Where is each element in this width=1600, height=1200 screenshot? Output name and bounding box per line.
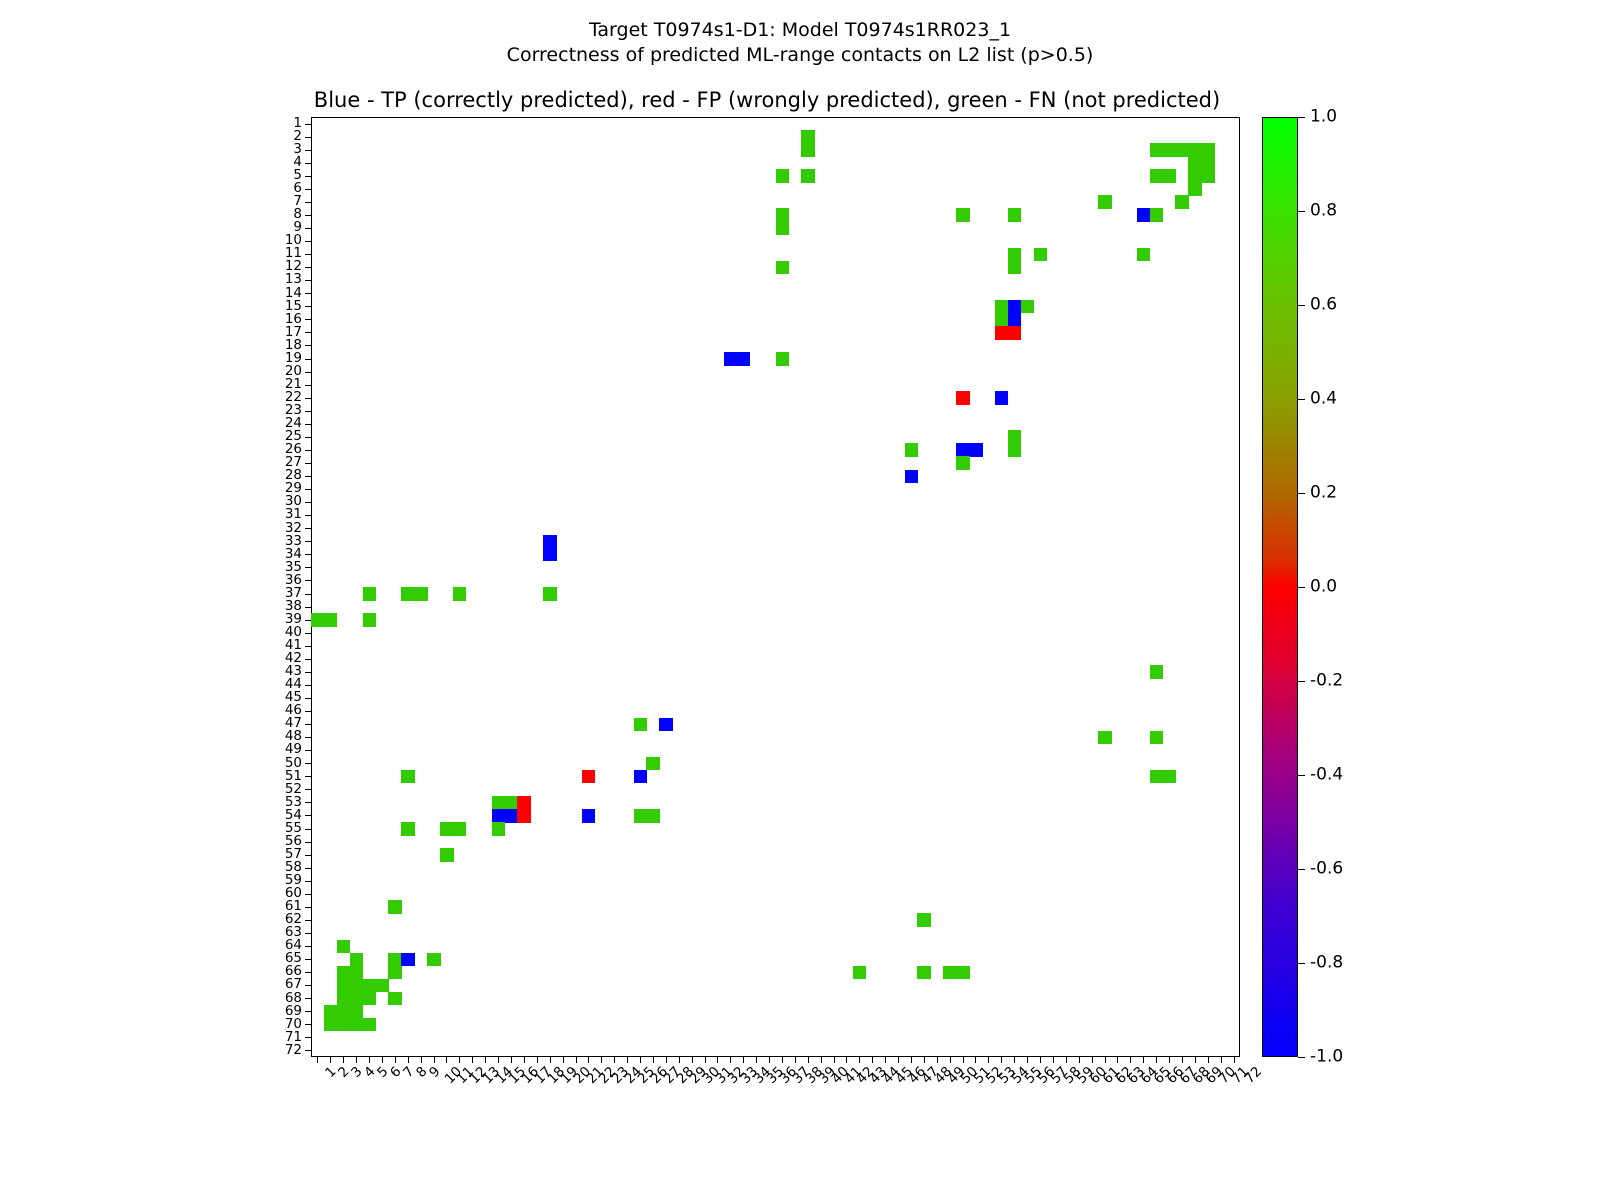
y-tick-mark <box>305 515 311 516</box>
contact-cell-fn <box>363 1018 377 1032</box>
colorbar-tick-label: -0.2 <box>1310 673 1343 690</box>
y-tick-mark <box>305 842 311 843</box>
y-tick-mark <box>305 254 311 255</box>
contact-cell-fn <box>956 208 970 222</box>
suptitle-line-2: Correctness of predicted ML-range contac… <box>0 43 1600 68</box>
y-tick-mark <box>305 1011 311 1012</box>
y-tick-mark <box>305 998 311 999</box>
y-tick-mark <box>305 646 311 647</box>
contact-cell-fn <box>1098 195 1112 209</box>
contact-cell-fn <box>350 992 364 1006</box>
contact-cell-fn <box>1021 300 1035 314</box>
colorbar-tick-mark <box>1298 587 1305 588</box>
x-tick-mark <box>898 1057 899 1063</box>
y-tick-mark <box>305 1024 311 1025</box>
contact-cell-fp <box>517 796 531 810</box>
contact-cell-fn <box>337 940 351 954</box>
y-tick-mark <box>305 476 311 477</box>
contact-cell-fn <box>917 966 931 980</box>
y-tick-mark <box>305 659 311 660</box>
contact-cell-fn <box>1137 248 1151 262</box>
contact-cell-fn <box>1008 208 1022 222</box>
colorbar-tick-mark <box>1298 963 1305 964</box>
y-tick-mark <box>305 763 311 764</box>
x-tick-mark <box>885 1057 886 1063</box>
x-tick-mark <box>1234 1057 1235 1063</box>
contact-cell-tp <box>1008 313 1022 327</box>
y-tick-mark <box>305 176 311 177</box>
y-tick-mark <box>305 594 311 595</box>
y-tick-mark <box>305 489 311 490</box>
contact-cell-tp <box>401 953 415 967</box>
y-tick-mark <box>305 241 311 242</box>
x-tick-mark <box>1143 1057 1144 1063</box>
contact-cell-fn <box>1188 169 1202 183</box>
contact-cell-fn <box>1008 261 1022 275</box>
contact-cell-fn <box>401 822 415 836</box>
y-tick-mark <box>305 920 311 921</box>
y-tick-mark <box>305 802 311 803</box>
x-tick-mark <box>975 1057 976 1063</box>
contact-cell-fn <box>492 822 506 836</box>
x-tick-mark <box>614 1057 615 1063</box>
x-tick-mark <box>1130 1057 1131 1063</box>
figure-suptitle: Target T0974s1-D1: Model T0974s1RR023_1 … <box>0 18 1600 68</box>
contact-cell-fn <box>324 1018 338 1032</box>
y-tick-mark <box>305 855 311 856</box>
contact-cell-fn <box>1163 169 1177 183</box>
contact-cell-fp <box>582 770 596 784</box>
y-tick-mark <box>305 633 311 634</box>
y-tick-mark <box>305 306 311 307</box>
x-tick-mark <box>666 1057 667 1063</box>
contact-cell-fn <box>363 587 377 601</box>
x-tick-mark <box>846 1057 847 1063</box>
colorbar-tick-mark <box>1298 681 1305 682</box>
y-tick-label: 72 <box>285 1044 302 1058</box>
x-tick-mark <box>330 1057 331 1063</box>
contact-cell-fn <box>388 953 402 967</box>
contact-cell-fn <box>414 587 428 601</box>
contact-cell-fn <box>956 966 970 980</box>
y-tick-mark <box>305 150 311 151</box>
contact-cell-tp <box>995 391 1009 405</box>
x-tick-mark <box>692 1057 693 1063</box>
x-tick-mark <box>743 1057 744 1063</box>
heatmap-cells <box>311 117 1240 1057</box>
contact-cell-fn <box>1163 770 1177 784</box>
contact-cell-fn <box>776 221 790 235</box>
contact-cell-fn <box>801 130 815 144</box>
y-tick-mark <box>305 868 311 869</box>
contact-cell-tp <box>505 809 519 823</box>
x-tick-mark <box>988 1057 989 1063</box>
y-tick-mark <box>305 372 311 373</box>
contact-cell-fn <box>1098 731 1112 745</box>
y-tick-mark <box>305 815 311 816</box>
contact-cell-fn <box>1150 731 1164 745</box>
contact-cell-fp <box>995 326 1009 340</box>
x-tick-mark <box>382 1057 383 1063</box>
suptitle-line-1: Target T0974s1-D1: Model T0974s1RR023_1 <box>0 18 1600 43</box>
colorbar-tick-label: 0.4 <box>1310 391 1337 408</box>
colorbar-tick-mark <box>1298 399 1305 400</box>
y-tick-mark <box>305 1050 311 1051</box>
x-tick-mark <box>1208 1057 1209 1063</box>
colorbar-tick-mark <box>1298 305 1305 306</box>
x-tick-mark <box>1182 1057 1183 1063</box>
x-tick-mark <box>511 1057 512 1063</box>
contact-cell-fn <box>337 1005 351 1019</box>
y-tick-mark <box>305 672 311 673</box>
x-tick-mark <box>924 1057 925 1063</box>
x-tick-mark <box>640 1057 641 1063</box>
x-tick-mark <box>421 1057 422 1063</box>
x-tick-mark <box>1105 1057 1106 1063</box>
x-tick-mark <box>756 1057 757 1063</box>
x-tick-mark <box>963 1057 964 1063</box>
contact-cell-fn <box>1150 143 1164 157</box>
contact-cell-fn <box>646 809 660 823</box>
y-tick-mark <box>305 698 311 699</box>
contact-cell-fn <box>388 992 402 1006</box>
y-tick-mark <box>305 959 311 960</box>
contact-cell-fn <box>776 261 790 275</box>
contact-cell-tp <box>543 535 557 549</box>
x-tick-mark <box>1027 1057 1028 1063</box>
y-tick-mark <box>305 450 311 451</box>
y-tick-mark <box>305 502 311 503</box>
contact-cell-tp <box>1137 208 1151 222</box>
x-tick-mark <box>1117 1057 1118 1063</box>
x-tick-mark <box>1053 1057 1054 1063</box>
contact-cell-fn <box>1163 143 1177 157</box>
y-tick-mark <box>305 398 311 399</box>
x-tick-mark <box>472 1057 473 1063</box>
contact-cell-fn <box>363 979 377 993</box>
contact-cell-fn <box>376 979 390 993</box>
contact-cell-fn <box>363 992 377 1006</box>
contact-map-plot: 1234567891011121314151617181920212223242… <box>311 117 1240 1057</box>
x-tick-mark <box>524 1057 525 1063</box>
colorbar: 1.00.80.60.40.20.0-0.2-0.4-0.6-0.8-1.0 <box>1262 117 1298 1057</box>
x-tick-mark <box>808 1057 809 1063</box>
y-tick-mark <box>305 972 311 973</box>
contact-cell-fn <box>995 313 1009 327</box>
y-tick-mark <box>305 332 311 333</box>
colorbar-gradient <box>1262 117 1298 1057</box>
contact-cell-fn <box>1201 143 1215 157</box>
y-tick-mark <box>305 1037 311 1038</box>
y-tick-mark <box>305 463 311 464</box>
contact-cell-fn <box>776 352 790 366</box>
x-tick-mark <box>950 1057 951 1063</box>
contact-cell-fn <box>853 966 867 980</box>
x-tick-mark <box>1066 1057 1067 1063</box>
y-tick-mark <box>305 776 311 777</box>
contact-cell-fn <box>1008 248 1022 262</box>
x-tick-mark <box>563 1057 564 1063</box>
y-tick-mark <box>305 567 311 568</box>
x-tick-mark <box>821 1057 822 1063</box>
y-tick-mark <box>305 554 311 555</box>
x-tick-mark <box>872 1057 873 1063</box>
x-tick-mark <box>717 1057 718 1063</box>
colorbar-tick-label: -0.4 <box>1310 767 1343 784</box>
x-tick-mark <box>679 1057 680 1063</box>
y-tick-mark <box>305 124 311 125</box>
contact-cell-fn <box>440 822 454 836</box>
y-tick-mark <box>305 724 311 725</box>
contact-cell-tp <box>492 809 506 823</box>
contact-cell-fn <box>776 208 790 222</box>
contact-cell-tp <box>956 443 970 457</box>
contact-cell-fn <box>776 169 790 183</box>
contact-cell-fn <box>905 443 919 457</box>
y-tick-mark <box>305 137 311 138</box>
contact-cell-fn <box>350 1018 364 1032</box>
y-tick-mark <box>305 894 311 895</box>
contact-cell-fn <box>1201 156 1215 170</box>
y-tick-mark <box>305 385 311 386</box>
contact-cell-fn <box>1150 169 1164 183</box>
contact-cell-fn <box>1188 156 1202 170</box>
contact-cell-fn <box>1188 143 1202 157</box>
contact-cell-fn <box>337 966 351 980</box>
contact-cell-fn <box>1175 143 1189 157</box>
contact-cell-fn <box>943 966 957 980</box>
x-tick-mark <box>1001 1057 1002 1063</box>
contact-cell-fn <box>1150 208 1164 222</box>
y-tick-mark <box>305 737 311 738</box>
colorbar-tick-label: 0.2 <box>1310 485 1337 502</box>
y-tick-mark <box>305 345 311 346</box>
x-tick-mark <box>730 1057 731 1063</box>
y-tick-mark <box>305 750 311 751</box>
y-tick-mark <box>305 293 311 294</box>
x-tick-mark <box>317 1057 318 1063</box>
y-tick-mark <box>305 541 311 542</box>
contact-cell-fn <box>956 456 970 470</box>
colorbar-tick-mark <box>1298 493 1305 494</box>
colorbar-tick-label: 0.8 <box>1310 203 1337 220</box>
contact-cell-fn <box>350 1005 364 1019</box>
y-tick-mark <box>305 319 311 320</box>
y-tick-mark <box>305 411 311 412</box>
x-tick-mark <box>485 1057 486 1063</box>
contact-cell-fn <box>401 587 415 601</box>
contact-cell-tp <box>543 548 557 562</box>
x-tick-mark <box>550 1057 551 1063</box>
y-tick-mark <box>305 267 311 268</box>
contact-cell-fp <box>1008 326 1022 340</box>
contact-cell-fn <box>543 587 557 601</box>
contact-cell-fn <box>324 1005 338 1019</box>
y-tick-mark <box>305 907 311 908</box>
x-tick-mark <box>769 1057 770 1063</box>
colorbar-tick-label: -0.6 <box>1310 861 1343 878</box>
y-tick-mark <box>305 215 311 216</box>
contact-cell-fn <box>492 796 506 810</box>
x-tick-mark <box>343 1057 344 1063</box>
x-tick-mark <box>782 1057 783 1063</box>
y-tick-mark <box>305 528 311 529</box>
contact-cell-fn <box>1201 169 1215 183</box>
x-tick-mark <box>434 1057 435 1063</box>
contact-cell-fn <box>1150 770 1164 784</box>
contact-cell-fn <box>1175 195 1189 209</box>
contact-cell-fn <box>401 770 415 784</box>
x-tick-mark <box>369 1057 370 1063</box>
contact-cell-tp <box>724 352 738 366</box>
contact-cell-fn <box>646 757 660 771</box>
colorbar-tick-label: 0.6 <box>1310 297 1337 314</box>
y-tick-mark <box>305 607 311 608</box>
colorbar-tick-label: -1.0 <box>1310 1049 1343 1066</box>
colorbar-tick-mark <box>1298 869 1305 870</box>
contact-cell-fn <box>1008 430 1022 444</box>
colorbar-tick-mark <box>1298 775 1305 776</box>
contact-cell-fn <box>337 979 351 993</box>
x-tick-mark <box>408 1057 409 1063</box>
contact-cell-fn <box>350 953 364 967</box>
colorbar-tick-label: -0.8 <box>1310 955 1343 972</box>
contact-cell-fn <box>440 848 454 862</box>
y-tick-mark <box>305 946 311 947</box>
contact-cell-fn <box>453 822 467 836</box>
x-tick-mark <box>588 1057 589 1063</box>
contact-cell-tp <box>737 352 751 366</box>
x-tick-mark <box>1079 1057 1080 1063</box>
x-tick-mark <box>498 1057 499 1063</box>
contact-cell-fn <box>917 913 931 927</box>
contact-cell-tp <box>634 770 648 784</box>
y-tick-mark <box>305 228 311 229</box>
contact-cell-fn <box>350 979 364 993</box>
contact-cell-tp <box>659 718 673 732</box>
contact-cell-fn <box>634 718 648 732</box>
y-tick-mark <box>305 685 311 686</box>
x-tick-mark <box>859 1057 860 1063</box>
x-tick-mark <box>1195 1057 1196 1063</box>
x-tick-mark <box>356 1057 357 1063</box>
x-tick-mark <box>1092 1057 1093 1063</box>
contact-cell-fn <box>453 587 467 601</box>
x-tick-mark <box>627 1057 628 1063</box>
contact-cell-fn <box>1188 182 1202 196</box>
y-tick-mark <box>305 620 311 621</box>
contact-cell-fn <box>337 1018 351 1032</box>
x-tick-mark <box>459 1057 460 1063</box>
y-tick-mark <box>305 280 311 281</box>
contact-cell-fn <box>505 796 519 810</box>
contact-cell-fn <box>350 966 364 980</box>
contact-cell-fn <box>311 613 325 627</box>
contact-cell-tp <box>905 470 919 484</box>
y-tick-mark <box>305 829 311 830</box>
x-tick-mark <box>395 1057 396 1063</box>
x-tick-mark <box>446 1057 447 1063</box>
x-tick-mark <box>834 1057 835 1063</box>
axes-title: Blue - TP (correctly predicted), red - F… <box>0 88 1534 112</box>
x-tick-mark <box>911 1057 912 1063</box>
x-tick-mark <box>601 1057 602 1063</box>
y-tick-mark <box>305 189 311 190</box>
colorbar-tick-label: 1.0 <box>1310 109 1337 126</box>
contact-cell-fp <box>956 391 970 405</box>
contact-cell-fn <box>1008 443 1022 457</box>
contact-cell-fn <box>427 953 441 967</box>
y-tick-mark <box>305 580 311 581</box>
contact-cell-fn <box>995 300 1009 314</box>
colorbar-tick-mark <box>1298 211 1305 212</box>
y-tick-mark <box>305 933 311 934</box>
x-tick-mark <box>653 1057 654 1063</box>
contact-cell-fn <box>337 992 351 1006</box>
y-tick-mark <box>305 711 311 712</box>
contact-cell-fn <box>324 613 338 627</box>
x-tick-mark <box>1156 1057 1157 1063</box>
x-tick-mark <box>576 1057 577 1063</box>
contact-cell-fn <box>388 966 402 980</box>
y-tick-mark <box>305 163 311 164</box>
contact-cell-tp <box>969 443 983 457</box>
contact-cell-tp <box>582 809 596 823</box>
contact-cell-tp <box>1008 300 1022 314</box>
contact-cell-fn <box>363 613 377 627</box>
y-tick-mark <box>305 437 311 438</box>
x-tick-mark <box>705 1057 706 1063</box>
contact-cell-fn <box>388 900 402 914</box>
colorbar-tick-label: 0.0 <box>1310 579 1337 596</box>
y-tick-mark <box>305 881 311 882</box>
y-tick-mark <box>305 985 311 986</box>
x-tick-mark <box>1014 1057 1015 1063</box>
y-tick-mark <box>305 202 311 203</box>
y-tick-mark <box>305 359 311 360</box>
contact-cell-fn <box>1034 248 1048 262</box>
x-tick-label: 9 <box>427 1065 443 1081</box>
contact-cell-fn <box>634 809 648 823</box>
contact-cell-fn <box>801 169 815 183</box>
x-tick-mark <box>937 1057 938 1063</box>
colorbar-tick-mark <box>1298 117 1305 118</box>
x-tick-mark <box>795 1057 796 1063</box>
y-tick-mark <box>305 424 311 425</box>
x-tick-mark <box>1040 1057 1041 1063</box>
y-tick-mark <box>305 789 311 790</box>
contact-cell-fp <box>517 809 531 823</box>
colorbar-tick-mark <box>1298 1057 1305 1058</box>
contact-cell-fn <box>1150 665 1164 679</box>
x-tick-mark <box>1169 1057 1170 1063</box>
x-tick-mark <box>537 1057 538 1063</box>
contact-cell-fn <box>801 143 815 157</box>
x-tick-mark <box>1221 1057 1222 1063</box>
